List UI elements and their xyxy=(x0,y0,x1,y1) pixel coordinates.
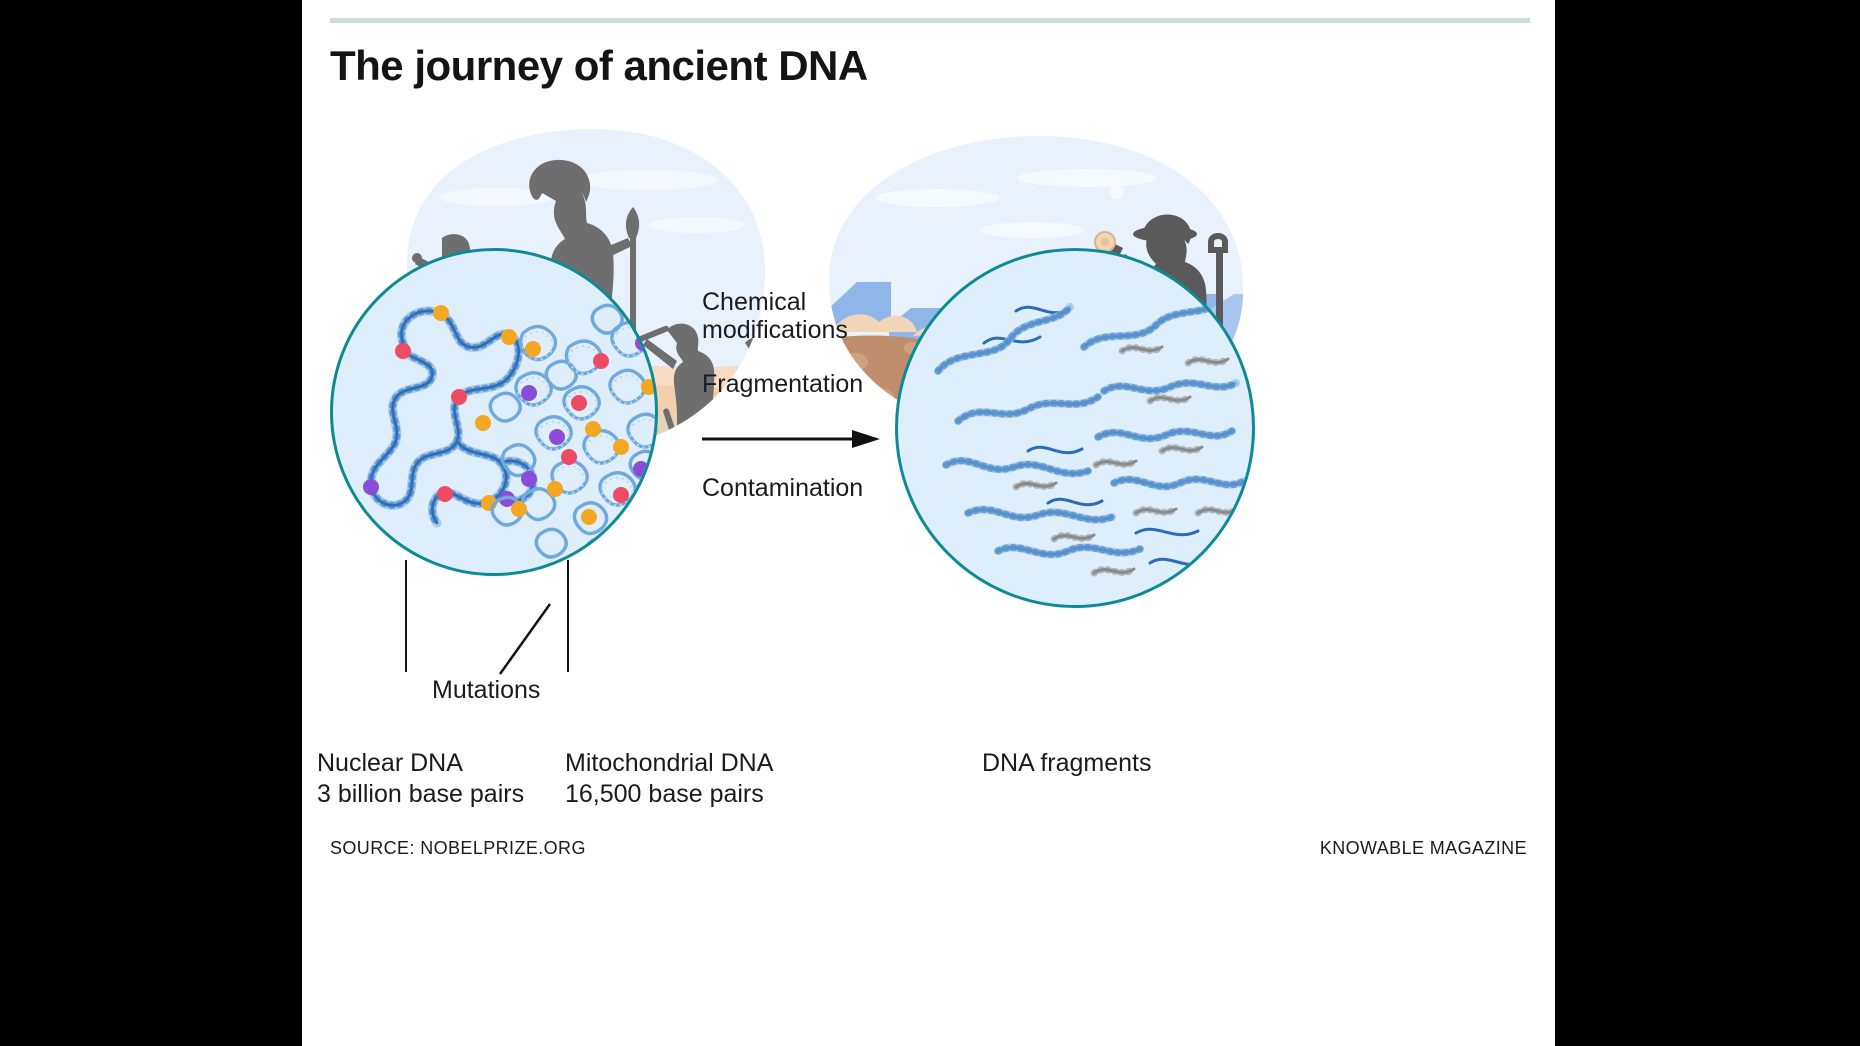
fragmented-dna-bubble xyxy=(895,248,1255,608)
figure-canvas: The journey of ancient DNA xyxy=(0,0,1860,1046)
process-arrow xyxy=(702,428,882,452)
nuclear-dna-leader-line xyxy=(405,560,407,672)
nuclear-dna-caption: Nuclear DNA 3 billion base pairs xyxy=(317,748,524,809)
chemical-modifications-label: Chemical modifications xyxy=(702,288,882,344)
top-divider-rule xyxy=(330,18,1530,23)
figure-card: The journey of ancient DNA xyxy=(302,0,1555,1046)
fragmentation-label: Fragmentation xyxy=(702,370,882,398)
source-credit: SOURCE: NOBELPRIZE.ORG xyxy=(330,838,586,859)
figure-title: The journey of ancient DNA xyxy=(330,42,868,90)
intact-dna-bubble xyxy=(330,248,658,576)
mutations-leader-line xyxy=(492,600,562,680)
contamination-label: Contamination xyxy=(702,474,882,502)
dna-fragments-caption: DNA fragments xyxy=(982,748,1152,779)
process-labels: Chemical modifications Fragmentation Con… xyxy=(702,288,882,502)
mutations-label: Mutations xyxy=(432,676,540,705)
mitochondrial-dna-caption: Mitochondrial DNA 16,500 base pairs xyxy=(565,748,773,809)
publisher-credit: KNOWABLE MAGAZINE xyxy=(1320,838,1527,859)
mitochondrial-dna-leader-line xyxy=(567,560,569,672)
